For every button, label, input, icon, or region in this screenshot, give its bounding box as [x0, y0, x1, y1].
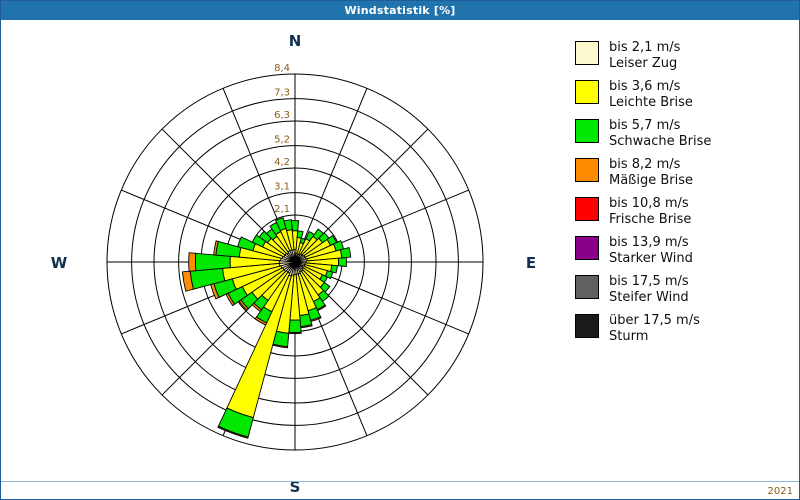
legend-item: bis 17,5 m/sSteifer Wind [575, 273, 790, 305]
legend-color-swatch [575, 197, 599, 221]
legend-label: bis 2,1 m/sLeiser Zug [609, 39, 680, 71]
legend-color-swatch [575, 158, 599, 182]
legend-label: bis 3,6 m/sLeichte Brise [609, 78, 693, 110]
legend-color-swatch [575, 314, 599, 338]
wind-sector-segment [338, 258, 346, 267]
wind-sector-segment [289, 332, 301, 333]
legend-speed: bis 17,5 m/s [609, 274, 689, 290]
legend-name: Mäßige Brise [609, 173, 693, 189]
legend-label: bis 8,2 m/sMäßige Brise [609, 156, 693, 188]
footer-divider [1, 481, 799, 482]
radial-tick-label: 3,1 [274, 182, 290, 193]
legend-label: bis 17,5 m/sSteifer Wind [609, 273, 689, 305]
radial-tick-label: 2,1 [274, 204, 290, 215]
compass-label-east: E [526, 254, 536, 272]
legend: bis 2,1 m/sLeiser Zugbis 3,6 m/sLeichte … [575, 39, 790, 351]
legend-name: Starker Wind [609, 251, 693, 267]
legend-name: Leiser Zug [609, 56, 680, 72]
legend-item: über 17,5 m/sSturm [575, 312, 790, 344]
legend-label: bis 5,7 m/sSchwache Brise [609, 117, 711, 149]
wind-sector-segment [297, 231, 303, 238]
wind-sector-segment [289, 320, 301, 333]
legend-speed: bis 13,9 m/s [609, 235, 693, 251]
legend-speed: über 17,5 m/s [609, 313, 700, 329]
legend-speed: bis 3,6 m/s [609, 79, 693, 95]
legend-name: Schwache Brise [609, 134, 711, 150]
legend-color-swatch [575, 41, 599, 65]
legend-label: bis 13,9 m/sStarker Wind [609, 234, 693, 266]
wind-rose-svg: 2,13,14,25,26,37,38,4NSWE [1, 20, 561, 500]
windstatistik-window: Windstatistik [%] 2,13,14,25,26,37,38,4N… [0, 0, 800, 500]
wind-rose-chart: 2,13,14,25,26,37,38,4NSWE [1, 20, 561, 500]
legend-item: bis 3,6 m/sLeichte Brise [575, 78, 790, 110]
legend-item: bis 10,8 m/sFrische Brise [575, 195, 790, 227]
legend-color-swatch [575, 80, 599, 104]
legend-label: über 17,5 m/sSturm [609, 312, 700, 344]
radial-tick-label: 7,3 [274, 88, 290, 99]
legend-color-swatch [575, 119, 599, 143]
legend-color-swatch [575, 275, 599, 299]
legend-speed: bis 10,8 m/s [609, 196, 691, 212]
compass-label-north: N [289, 32, 302, 50]
wind-sector-segment [340, 248, 350, 258]
legend-name: Steifer Wind [609, 290, 689, 306]
legend-color-swatch [575, 236, 599, 260]
legend-item: bis 8,2 m/sMäßige Brise [575, 156, 790, 188]
legend-item: bis 13,9 m/sStarker Wind [575, 234, 790, 266]
radial-tick-label: 4,2 [274, 157, 290, 168]
legend-speed: bis 2,1 m/s [609, 40, 680, 56]
wind-sector-segment [216, 241, 241, 257]
legend-item: bis 2,1 m/sLeiser Zug [575, 39, 790, 71]
window-title-bar: Windstatistik [%] [1, 1, 799, 20]
legend-label: bis 10,8 m/sFrische Brise [609, 195, 691, 227]
year-label: 2021 [768, 486, 793, 497]
radial-tick-label: 8,4 [274, 63, 290, 74]
legend-name: Frische Brise [609, 212, 691, 228]
legend-name: Leichte Brise [609, 95, 693, 111]
wind-sectors [182, 218, 350, 439]
compass-label-west: W [51, 254, 68, 272]
window-title: Windstatistik [%] [344, 4, 455, 17]
legend-speed: bis 5,7 m/s [609, 118, 711, 134]
radial-tick-label: 6,3 [274, 110, 290, 121]
wind-sector-segment [189, 253, 196, 272]
legend-item: bis 5,7 m/sSchwache Brise [575, 117, 790, 149]
radial-axis-labels: 2,13,14,25,26,37,38,4 [274, 63, 290, 215]
grid-spoke [295, 88, 367, 262]
radial-tick-label: 5,2 [274, 135, 290, 146]
legend-name: Sturm [609, 329, 700, 345]
legend-speed: bis 8,2 m/s [609, 157, 693, 173]
